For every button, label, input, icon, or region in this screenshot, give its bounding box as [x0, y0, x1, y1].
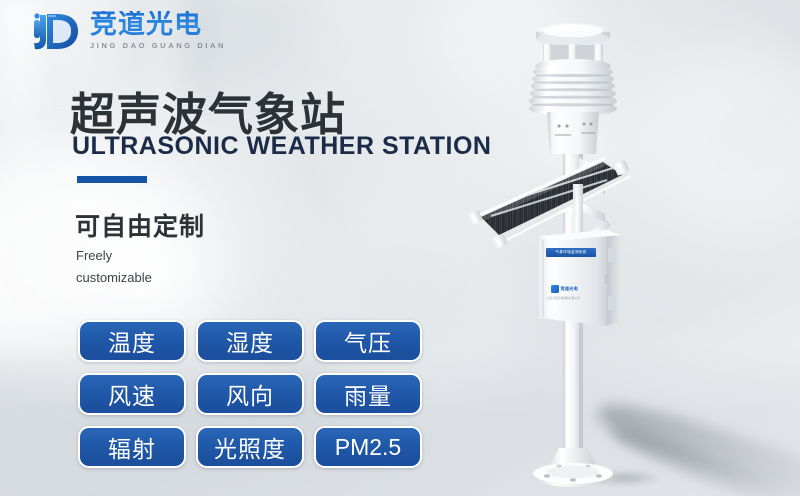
jd-monogram-icon: [551, 285, 559, 293]
control-box-logo-subtext: 山东竞道光电科技有限公司: [547, 296, 580, 300]
feature-tag[interactable]: 气压: [314, 320, 422, 362]
control-box-logo: 竞道光电: [551, 285, 578, 293]
brand-logo: 竞道光电 JING DAO GUANG DIAN: [26, 8, 226, 54]
jd-monogram-icon: [26, 8, 82, 54]
brand-name-pinyin: JING DAO GUANG DIAN: [90, 42, 226, 50]
feature-tag[interactable]: 风速: [78, 373, 186, 415]
hero-title-en: ULTRASONIC WEATHER STATION: [72, 132, 491, 161]
control-box-label-text: 气象环境监测系统: [555, 250, 586, 255]
product-image-ultrasonic-weather-station: 气象环境监测系统 竞道光电 山东竞道光电科技有限公司: [455, 8, 710, 496]
hero-divider: [77, 176, 147, 183]
base-flange-plate: [533, 448, 613, 487]
feature-tag[interactable]: 辐射: [78, 426, 186, 468]
feature-tag-grid: 温度 湿度 气压 风速 风向 雨量 辐射 光照度 PM2.5: [78, 320, 422, 468]
feature-tag[interactable]: 温度: [78, 320, 186, 362]
feature-tag[interactable]: PM2.5: [314, 426, 422, 468]
feature-tag[interactable]: 风向: [196, 373, 304, 415]
feature-tag[interactable]: 雨量: [314, 373, 422, 415]
data-logger-box: [539, 230, 621, 326]
feature-tag[interactable]: 光照度: [196, 426, 304, 468]
control-box-logo-text: 竞道光电: [561, 286, 579, 292]
brand-name-cn: 竞道光电: [90, 11, 226, 38]
hero-banner: 竞道光电 JING DAO GUANG DIAN 超声波气象站 ULTRASON…: [0, 0, 800, 496]
control-box-label: 气象环境监测系统: [546, 248, 596, 257]
radiation-shield-icon: [529, 65, 617, 154]
feature-tag[interactable]: 湿度: [196, 320, 304, 362]
hero-subtitle-en-line2: customizable: [76, 270, 152, 285]
hero-subtitle-cn: 可自由定制: [75, 207, 205, 243]
hero-subtitle-en-line1: Freely: [76, 248, 112, 263]
